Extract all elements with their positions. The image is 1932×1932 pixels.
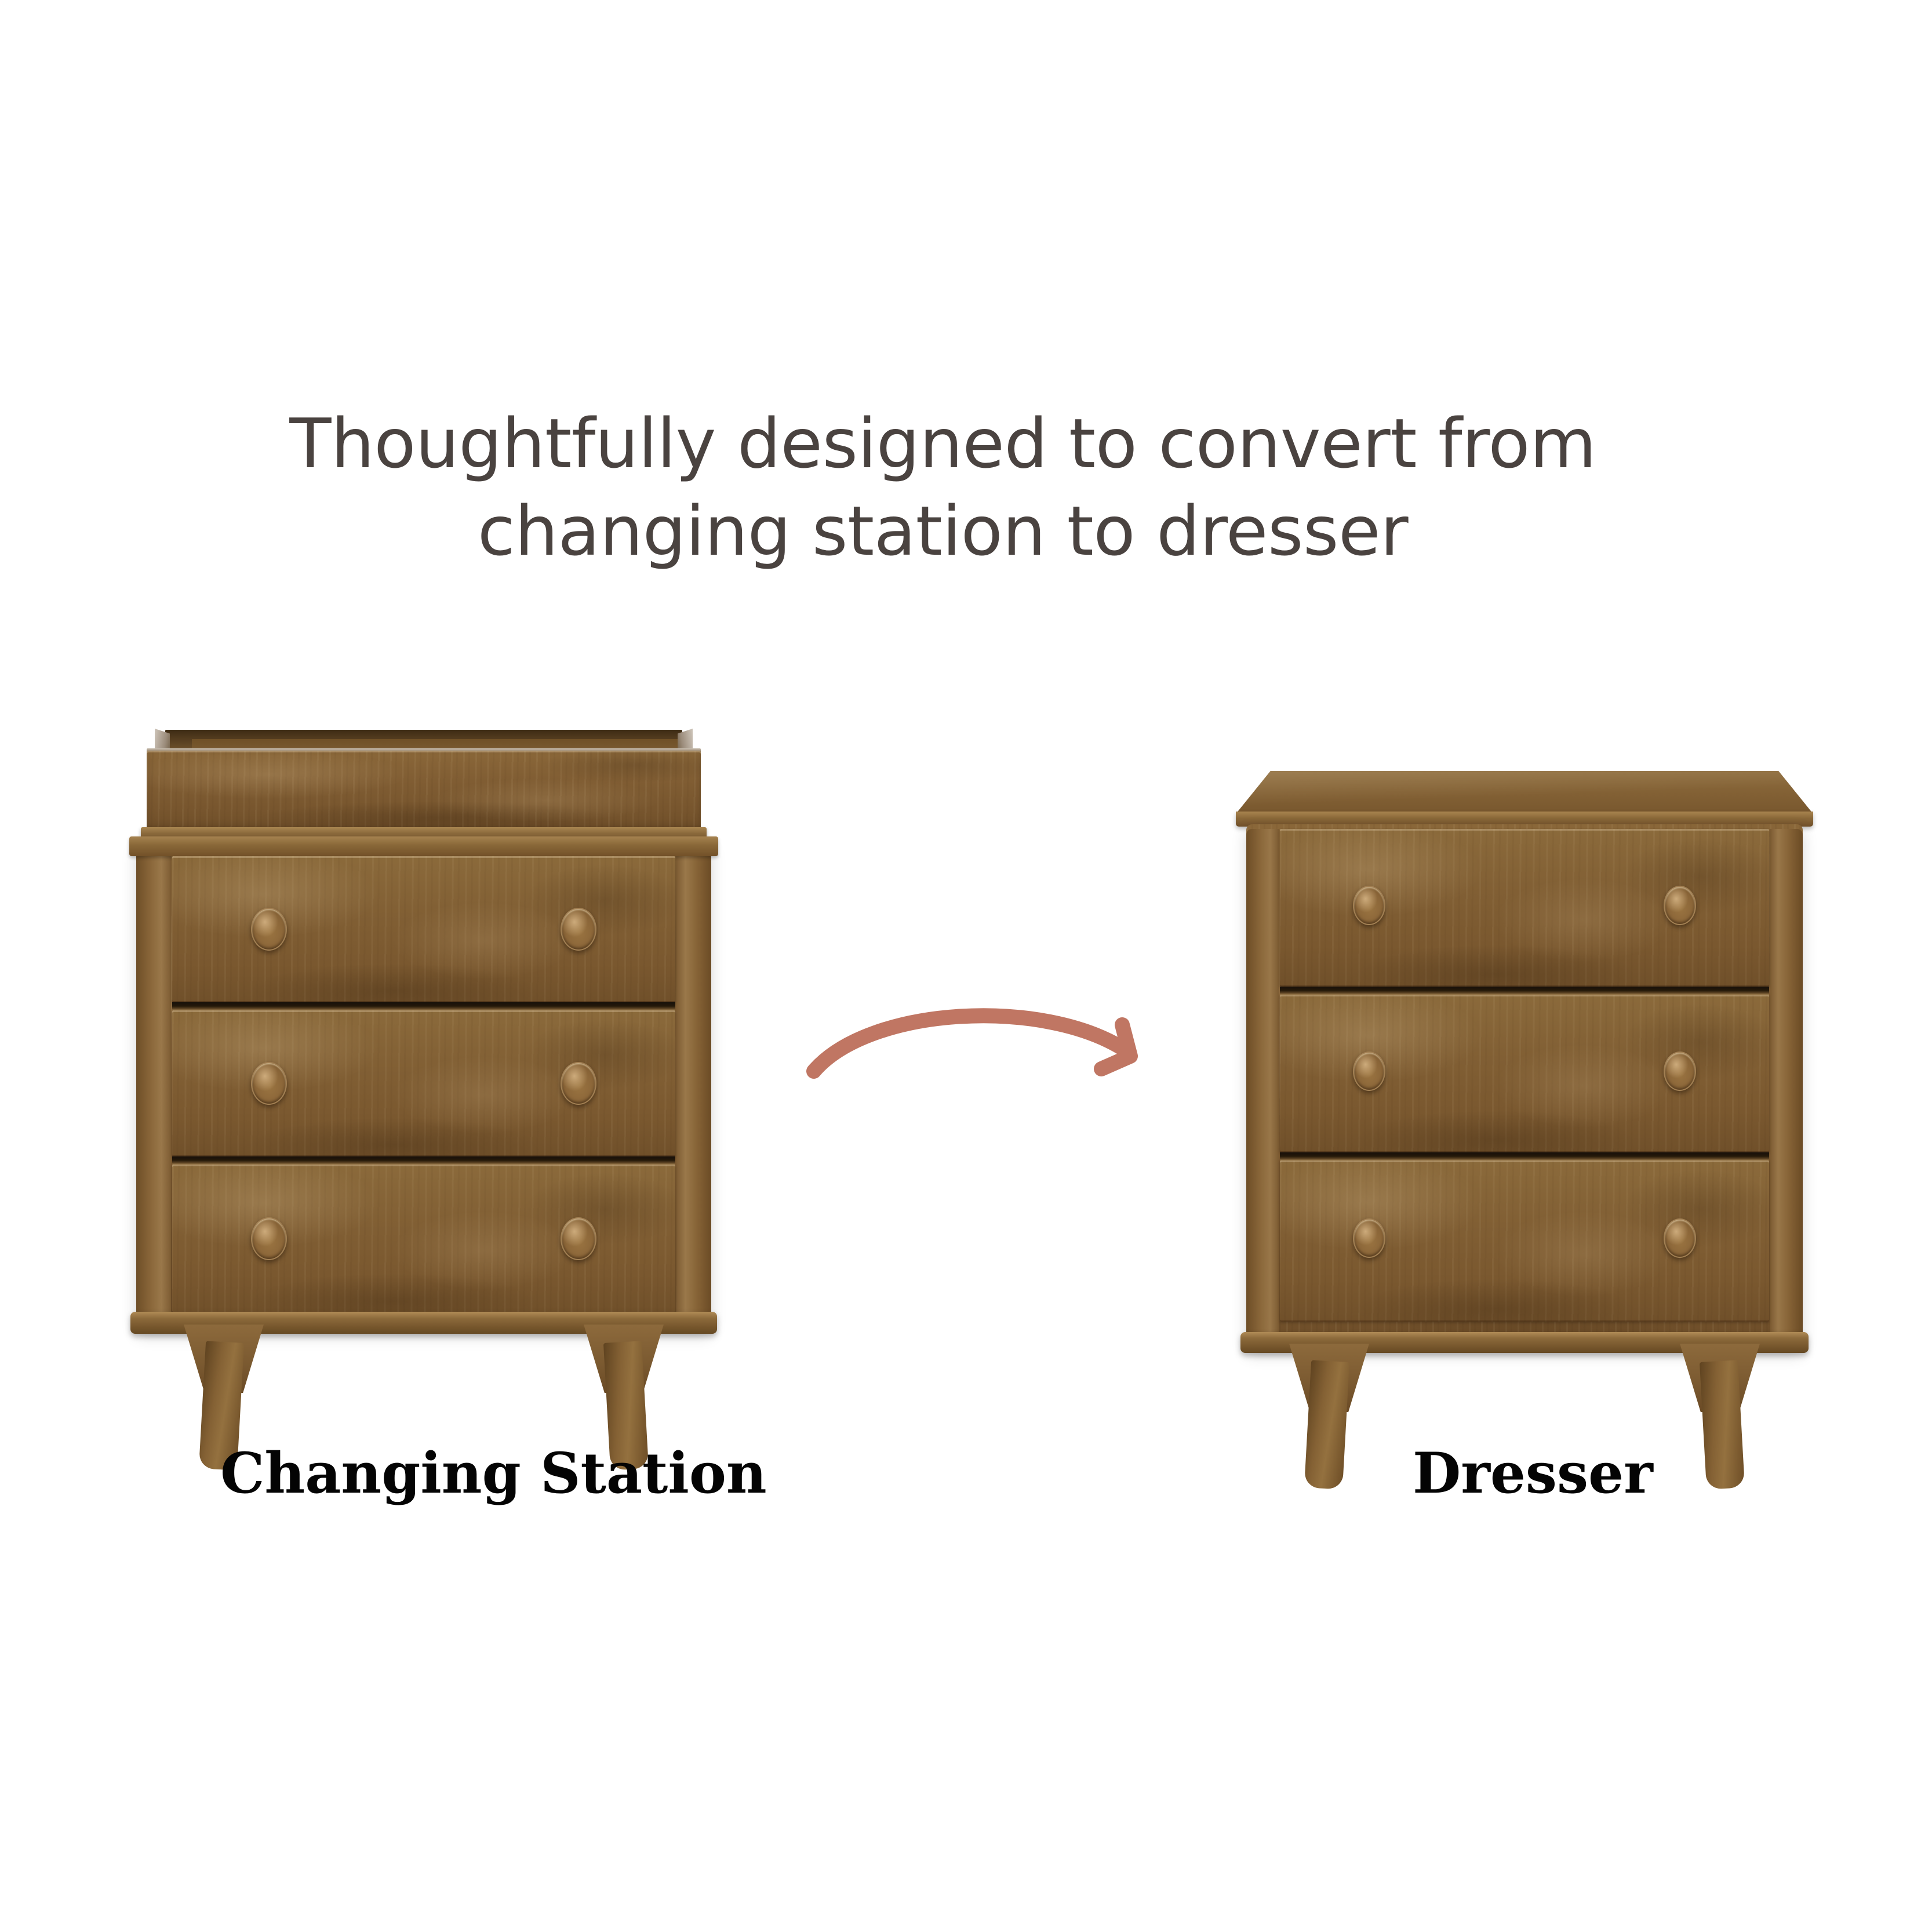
dresser-drawer-1-knob-left[interactable] [1353,886,1385,925]
cabinet-top-rail [129,836,718,856]
dresser-drawer-2-knob-right[interactable] [1664,1051,1696,1091]
caption-changing-station: Changing Station [220,1440,767,1506]
dresser-drawer-2[interactable] [1280,995,1769,1152]
dresser-drawer-1[interactable] [1280,829,1769,987]
product-comparison-stage [0,0,1932,1932]
drawer-1[interactable] [172,856,675,1002]
cabinet-side-right [676,847,711,1326]
drawer-1-knob-right[interactable] [561,908,596,951]
changing-station-cabinet [136,841,711,1330]
drawer-3-knob-right[interactable] [561,1217,596,1260]
dresser-drawer-gap-1 [1280,987,1769,995]
cabinet-side-left [136,847,171,1326]
changing-tray [147,727,701,838]
dresser-side-left [1246,829,1279,1345]
dresser-drawer-3-knob-left[interactable] [1353,1218,1385,1258]
dresser-top [1236,771,1813,827]
drawer-gap-2 [172,1156,675,1165]
drawer-1-knob-left[interactable] [251,908,287,951]
product-changing-station[interactable] [136,727,711,1400]
drawer-gap-1 [172,1002,675,1010]
drawer-stack [172,856,675,1313]
dresser-drawer-gap-2 [1280,1152,1769,1160]
dresser-drawer-2-knob-left[interactable] [1353,1051,1385,1091]
drawer-2[interactable] [172,1010,675,1156]
dresser-cabinet [1246,824,1803,1349]
dresser-drawer-3[interactable] [1280,1160,1769,1322]
product-dresser[interactable] [1246,771,1803,1400]
dresser-side-right [1770,829,1803,1345]
drawer-3[interactable] [172,1165,675,1313]
dresser-top-surface [1236,771,1813,814]
curved-conversion-arrow-icon [800,980,1159,1125]
dresser-drawer-stack [1280,829,1769,1333]
drawer-2-knob-right[interactable] [561,1062,596,1105]
dresser-drawer-3-knob-right[interactable] [1664,1218,1696,1258]
drawer-3-knob-left[interactable] [251,1217,287,1260]
dresser-leg-left [1304,1360,1349,1489]
tray-front-panel [147,751,701,831]
dresser-leg-right [1700,1360,1745,1489]
caption-dresser: Dresser [1413,1440,1653,1506]
drawer-2-knob-left[interactable] [251,1062,287,1105]
dresser-drawer-1-knob-right[interactable] [1664,886,1696,925]
